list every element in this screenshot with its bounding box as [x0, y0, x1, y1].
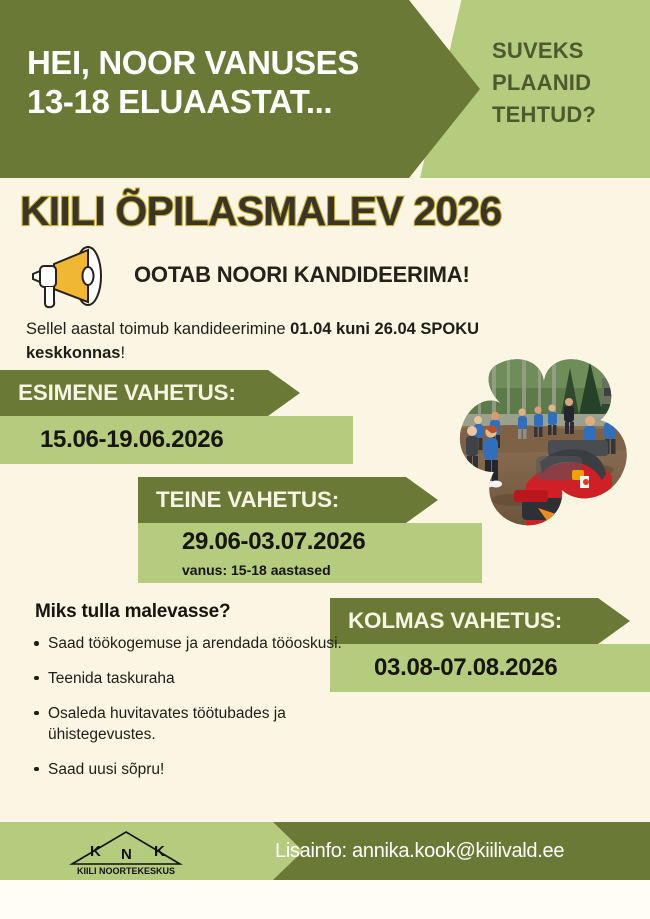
shift-1-body: 15.06-19.06.2026	[0, 416, 353, 464]
kiili-noortekeskus-logo: K N K KIILI NOORTEKESKUS	[62, 828, 190, 876]
shift-2-heading: TEINE VAHETUS:	[138, 477, 456, 523]
header-question-line1: SUVEKS	[492, 35, 642, 67]
poster-title: KIILI ÕPILASMALEV 2026	[20, 188, 640, 235]
bottom-bar: Loe lähemalt www.kiilikalender.ee KIILI …	[0, 880, 650, 919]
poster-subtitle: OOTAB NOORI KANDIDEERIMA!	[134, 262, 470, 288]
intro-text-3: !	[120, 344, 125, 362]
shift-2-date: 29.06-03.07.2026	[182, 528, 482, 556]
header-headline: HEI, NOOR VANUSES 13-18 ELUAASTAT...	[27, 44, 427, 122]
header-banner: HEI, NOOR VANUSES 13-18 ELUAASTAT... SUV…	[0, 0, 650, 178]
intro-text-1: Sellel aastal toimub kandideerimine	[26, 320, 290, 338]
shift-1-date: 15.06-19.06.2026	[40, 426, 353, 454]
knk-letter-left: K	[90, 843, 101, 860]
megaphone-icon	[26, 245, 126, 311]
why-join-list: Saad töökogemuse ja arendada tööoskusi. …	[14, 634, 354, 795]
shift-3-heading-label: KOLMAS VAHETUS:	[348, 608, 562, 634]
header-question-line3: TEHTUD?	[492, 99, 642, 131]
knk-caption: KIILI NOORTEKESKUS	[77, 866, 175, 876]
list-item: Osaleda huvitavates töötubades ja ühiste…	[34, 704, 354, 746]
shift-3-body: 03.08-07.08.2026	[330, 644, 650, 692]
poster-root: HEI, NOOR VANUSES 13-18 ELUAASTAT... SUV…	[0, 0, 650, 919]
list-item: Saad töökogemuse ja arendada tööoskusi.	[34, 634, 354, 655]
header-question-line2: PLAANID	[492, 67, 642, 99]
shift-1-heading: ESIMENE VAHETUS:	[0, 370, 318, 416]
list-item: Teenida taskuraha	[34, 669, 354, 690]
knk-letter-mid: N	[121, 846, 132, 863]
header-question: SUVEKS PLAANID TEHTUD?	[492, 35, 642, 131]
shift-2-age-note: vanus: 15-18 aastased	[182, 562, 482, 578]
header-headline-line1: HEI, NOOR VANUSES	[27, 44, 427, 83]
shift-1-heading-label: ESIMENE VAHETUS:	[18, 380, 236, 406]
subtitle-row: OOTAB NOORI KANDIDEERIMA!	[22, 243, 622, 313]
shift-3-heading: KOLMAS VAHETUS:	[330, 598, 648, 644]
why-join-title: Miks tulla malevasse?	[35, 601, 230, 623]
shift-3-date: 03.08-07.08.2026	[374, 654, 650, 682]
shift-2-heading-label: TEINE VAHETUS:	[156, 487, 339, 513]
contact-email[interactable]: Lisainfo: annika.kook@kiilivald.ee	[275, 840, 564, 863]
shift-2-body: 29.06-03.07.2026 vanus: 15-18 aastased	[138, 523, 482, 583]
knk-letter-right: K	[154, 843, 165, 860]
header-headline-line2: 13-18 ELUAASTAT...	[27, 83, 427, 122]
intro-paragraph: Sellel aastal toimub kandideerimine 01.0…	[26, 318, 506, 366]
camp-photo	[452, 358, 636, 526]
list-item: Saad uusi sõpru!	[34, 760, 354, 781]
intro-dates: 01.04 kuni 26.04	[290, 320, 416, 338]
